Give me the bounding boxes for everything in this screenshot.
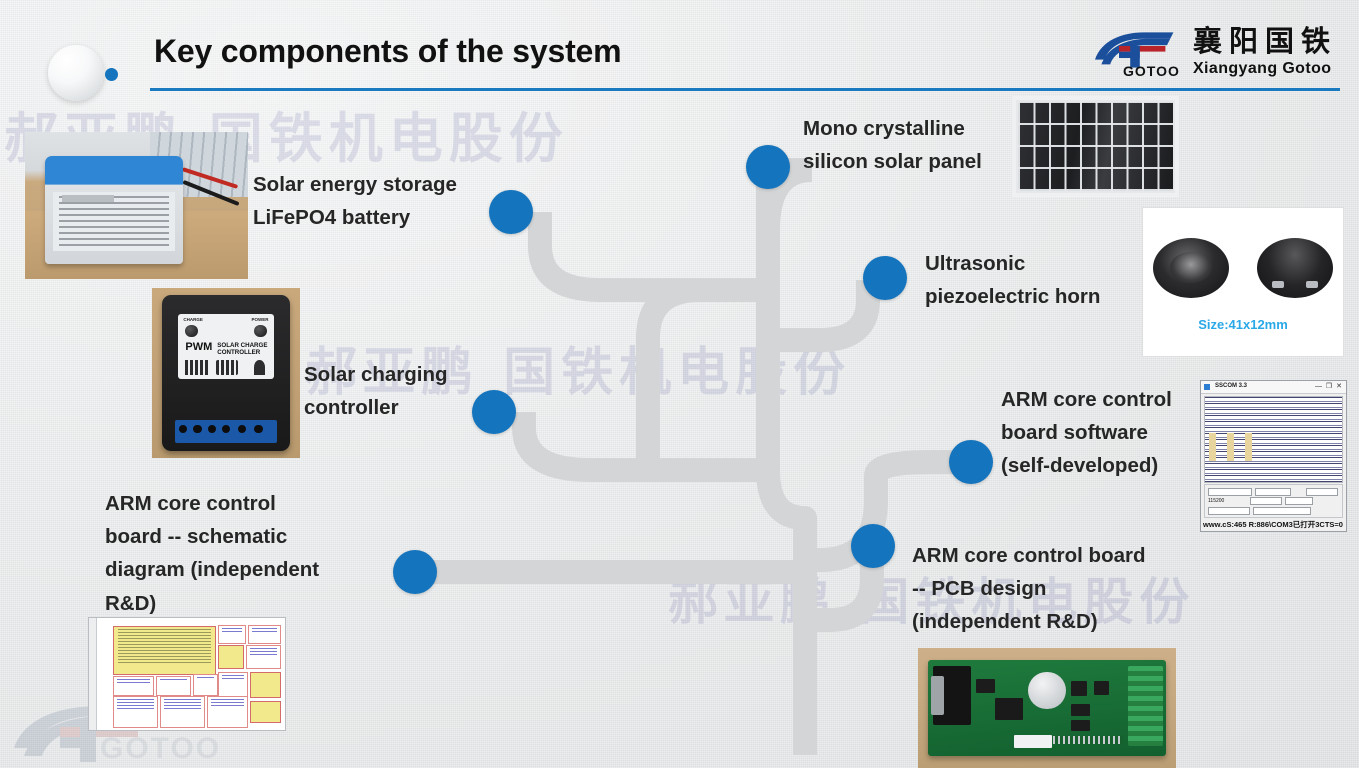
label-battery-line1: Solar energy storage (253, 168, 513, 201)
software-window-titlebar: SSCOM 3.3 — ❐ ✕ (1201, 381, 1346, 394)
logo-gotoo-text: GOTOO (1123, 63, 1180, 79)
svg-text:GOTOO: GOTOO (100, 732, 221, 765)
board-software-screenshot: SSCOM 3.3 — ❐ ✕ 115200 www.cS:465 R:886\… (1200, 380, 1347, 532)
label-schematic: ARM core control board -- schematic diag… (105, 487, 395, 620)
software-baudrate-value: 115200 (1208, 498, 1224, 504)
label-board-software-line1: ARM core control (1001, 383, 1211, 416)
node-horn[interactable] (863, 256, 907, 300)
label-charge-controller-line2: controller (304, 391, 524, 424)
logo-english-name: Xiangyang Gotoo (1193, 61, 1337, 77)
software-maximize-icon[interactable]: ❐ (1326, 383, 1332, 390)
schematic-diagram-photo (88, 617, 286, 731)
page-title: Key components of the system (154, 33, 621, 70)
label-schematic-line3: diagram (independent (105, 553, 395, 586)
label-charge-controller: Solar charging controller (304, 358, 524, 424)
controller-charge-led-label: CHARGE (183, 317, 203, 322)
label-horn-line1: Ultrasonic (925, 247, 1155, 280)
node-schematic[interactable] (393, 550, 437, 594)
software-minimize-icon[interactable]: — (1315, 383, 1322, 390)
controller-power-led-label: POWER (252, 317, 269, 322)
charge-controller-photo: CHARGE POWER PWM SOLAR CHARGE CONTROLLER (152, 288, 300, 458)
label-schematic-line1: ARM core control (105, 487, 395, 520)
label-solar-panel: Mono crystalline silicon solar panel (803, 112, 1033, 178)
brand-logo: GOTOO 襄阳国铁 Xiangyang Gotoo (1087, 26, 1337, 78)
horn-photo: Size:41x12mm (1142, 207, 1344, 357)
label-horn: Ultrasonic piezoelectric horn (925, 247, 1155, 313)
battery-photo (25, 132, 248, 279)
controller-brand-text: PWM (185, 341, 212, 353)
software-status-bar: www.cS:465 R:886\COM3已打开3CTS=0 (1203, 519, 1344, 530)
label-pcb-line3: (independent R&D) (912, 605, 1212, 638)
label-schematic-line2: board -- schematic (105, 520, 395, 553)
horn-front-view (1153, 238, 1229, 298)
label-pcb: ARM core control board -- PCB design (in… (912, 539, 1212, 639)
software-app-icon (1204, 384, 1210, 390)
horn-size-caption: Size:41x12mm (1143, 317, 1343, 332)
label-board-software-line2: board software (1001, 416, 1211, 449)
label-board-software-line3: (self-developed) (1001, 449, 1211, 482)
pcb-design-photo (918, 648, 1176, 768)
label-charge-controller-line1: Solar charging (304, 358, 524, 391)
slide-header: Key components of the system GOTOO 襄阳国铁 … (0, 0, 1359, 96)
controller-description-text: SOLAR CHARGE CONTROLLER (217, 342, 267, 356)
solar-panel-photo (1012, 96, 1179, 197)
decorative-sphere (48, 45, 104, 101)
label-battery: Solar energy storage LiFePO4 battery (253, 168, 513, 234)
software-terminal-output (1204, 396, 1343, 483)
label-battery-line2: LiFePO4 battery (253, 201, 513, 234)
title-underline (150, 88, 1340, 91)
label-board-software: ARM core control board software (self-de… (1001, 383, 1211, 483)
controller-charge-led (185, 325, 198, 338)
software-close-icon[interactable]: ✕ (1336, 383, 1342, 390)
label-pcb-line2: -- PCB design (912, 572, 1212, 605)
node-board-software[interactable] (949, 440, 993, 484)
node-solar-panel[interactable] (746, 145, 790, 189)
label-solar-panel-line2: silicon solar panel (803, 145, 1033, 178)
decorative-dot (105, 68, 118, 81)
software-control-panel: 115200 (1204, 484, 1343, 518)
label-horn-line2: piezoelectric horn (925, 280, 1155, 313)
label-solar-panel-line1: Mono crystalline (803, 112, 1033, 145)
software-window-title: SSCOM 3.3 (1215, 383, 1247, 389)
label-pcb-line1: ARM core control board (912, 539, 1212, 572)
logo-chinese-name: 襄阳国铁 (1193, 27, 1337, 56)
label-schematic-line4: R&D) (105, 587, 395, 620)
node-pcb[interactable] (851, 524, 895, 568)
controller-power-led (254, 325, 267, 338)
horn-back-view (1257, 238, 1333, 298)
